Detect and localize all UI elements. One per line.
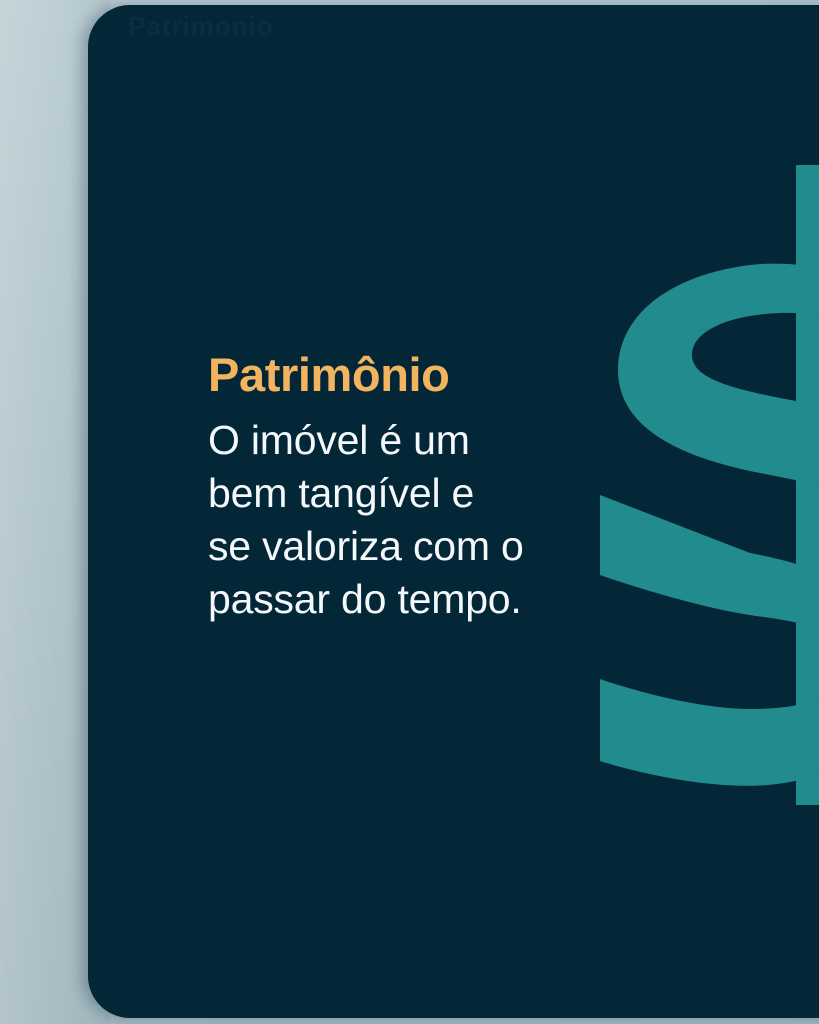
page-title: Patrimônio (208, 350, 638, 400)
content-card: Patrimonio Patrimônio O imóvel é um bem … (88, 5, 819, 1018)
body-line-3: se valoriza com o (208, 520, 638, 573)
text-block: Patrimônio O imóvel é um bem tangível e … (208, 350, 638, 626)
body-line-2: bem tangível e (208, 467, 638, 520)
slide-canvas: Patrimonio Patrimônio O imóvel é um bem … (0, 0, 819, 1024)
ghost-watermark-text: Patrimonio (128, 11, 274, 42)
body-line-4: passar do tempo. (208, 573, 638, 626)
body-line-1: O imóvel é um (208, 414, 638, 467)
